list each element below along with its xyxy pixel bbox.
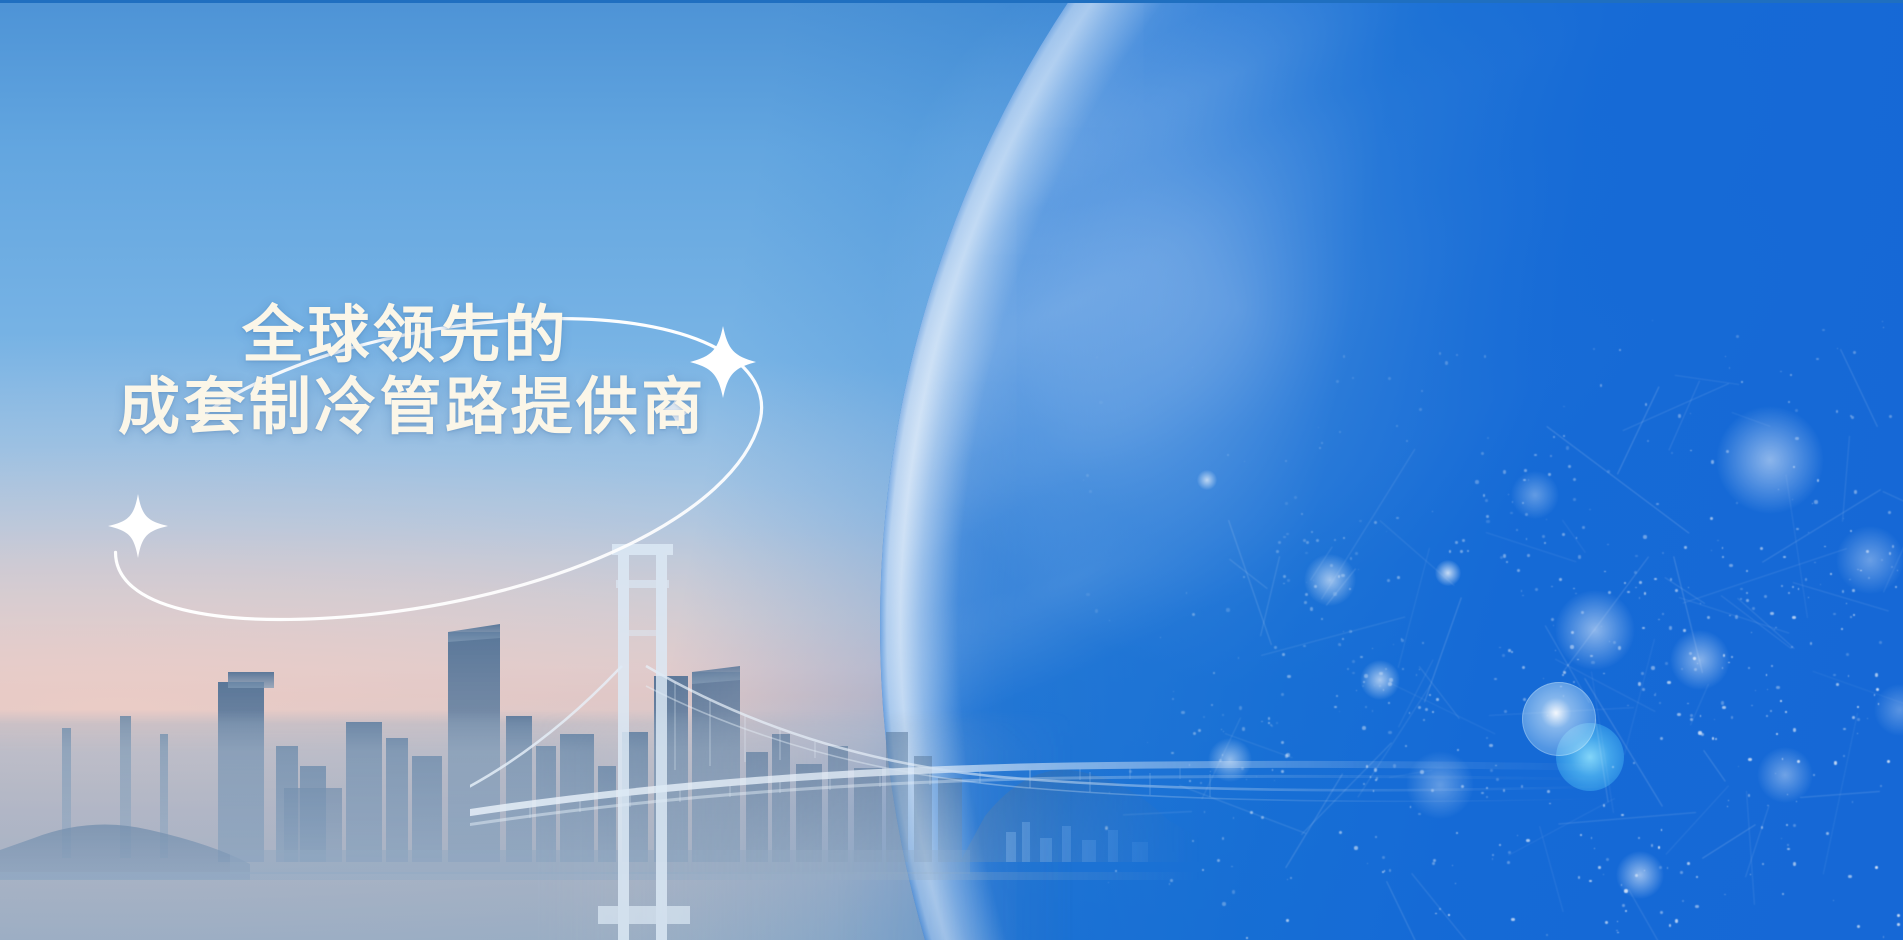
city-light-point — [1651, 666, 1654, 669]
city-light-point — [1830, 573, 1831, 574]
city-light-point — [1641, 672, 1644, 675]
city-light-point — [1675, 919, 1679, 923]
city-light-point — [1798, 588, 1799, 589]
city-light-point — [1796, 528, 1799, 531]
city-light-point — [1667, 681, 1670, 684]
city-light-point — [1820, 584, 1821, 585]
city-light-point — [1771, 665, 1773, 667]
city-light-point — [1841, 628, 1843, 630]
city-light-point — [1622, 904, 1625, 907]
city-light-point — [1796, 801, 1797, 802]
city-light-point — [1635, 587, 1636, 588]
city-light-point — [1767, 689, 1768, 690]
city-light-point — [1793, 728, 1796, 731]
headline-line-1: 全球领先的 — [118, 300, 898, 372]
city-light-point — [1752, 607, 1755, 610]
city-light-point — [1810, 642, 1813, 645]
city-light-point — [1711, 550, 1712, 551]
city-light-point — [1751, 632, 1752, 633]
city-light-point — [1808, 597, 1809, 598]
city-light-point — [1727, 806, 1728, 807]
city-light-point — [1728, 800, 1729, 801]
city-light-point — [1627, 591, 1630, 594]
city-light-point — [1853, 351, 1856, 354]
city-light-point — [1770, 612, 1773, 615]
city-light-point — [1319, 447, 1321, 449]
city-light-point — [1786, 824, 1788, 826]
city-light-point — [1776, 686, 1779, 689]
city-light-point — [1690, 450, 1692, 452]
city-light-point — [1244, 461, 1245, 462]
city-light-point — [1728, 662, 1729, 663]
city-light-point — [1792, 586, 1794, 588]
city-light-point — [1787, 844, 1788, 845]
city-light-point — [1729, 564, 1732, 567]
city-light-thread — [1703, 750, 1726, 782]
city-light-point — [1639, 581, 1642, 584]
city-light-point — [1661, 829, 1663, 831]
city-light-point — [1853, 614, 1855, 616]
city-light-thread — [1622, 383, 1729, 431]
city-light-point — [1707, 616, 1710, 619]
city-light-point — [1740, 588, 1743, 591]
city-light-point — [1875, 866, 1878, 869]
city-light-point — [1096, 356, 1099, 359]
city-light-point — [1701, 733, 1704, 736]
city-light-point — [1680, 871, 1683, 874]
city-light-point — [1748, 667, 1750, 669]
city-light-point — [1822, 329, 1825, 332]
city-light-point — [1852, 589, 1855, 592]
city-light-point — [1682, 900, 1685, 903]
city-light-point — [1625, 910, 1627, 912]
city-light-point — [1857, 925, 1860, 928]
city-light-point — [1729, 615, 1731, 617]
city-light-point — [1675, 589, 1678, 592]
city-light-point — [1787, 848, 1790, 851]
city-light-point — [1889, 552, 1891, 554]
hero-banner: 全球领先的 成套制冷管路提供商 — [0, 0, 1903, 940]
city-light-cluster — [1716, 406, 1824, 514]
city-light-point — [1888, 511, 1891, 514]
city-light-thread — [1665, 786, 1729, 856]
city-light-point — [1654, 694, 1656, 696]
city-light-point — [1388, 377, 1391, 380]
city-light-point — [1793, 824, 1796, 827]
city-light-point — [1695, 905, 1699, 909]
city-light-point — [1812, 503, 1813, 504]
city-light-point — [1688, 587, 1690, 589]
city-light-point — [1792, 616, 1795, 619]
city-light-point — [1687, 862, 1690, 865]
city-light-point — [1836, 683, 1839, 686]
city-light-point — [1788, 401, 1791, 404]
city-light-point — [1843, 728, 1846, 731]
city-light-point — [1785, 711, 1786, 712]
city-light-point — [1816, 358, 1818, 360]
city-light-point — [1717, 540, 1719, 542]
city-light-point — [1690, 718, 1693, 721]
city-light-point — [1667, 867, 1668, 868]
city-light-point — [1833, 613, 1835, 615]
city-light-point — [1834, 761, 1837, 764]
city-light-point — [1882, 321, 1883, 322]
city-light-point — [1854, 490, 1857, 493]
city-light-point — [1285, 460, 1287, 462]
city-light-point — [1321, 442, 1323, 444]
city-light-point — [1099, 401, 1102, 404]
city-light-point — [1694, 668, 1697, 671]
city-light-point — [1639, 597, 1640, 598]
city-light-point — [1568, 465, 1571, 468]
city-light-point — [1669, 924, 1671, 926]
city-light-point — [1760, 547, 1763, 550]
city-light-point — [1621, 814, 1624, 817]
city-light-point — [1736, 502, 1738, 504]
city-light-point — [1634, 571, 1637, 574]
city-light-point — [1762, 863, 1764, 865]
city-light-point — [1681, 668, 1683, 670]
city-light-point — [1621, 884, 1623, 886]
city-light-point — [1714, 719, 1715, 720]
page-title: 全球领先的 成套制冷管路提供商 — [118, 300, 898, 444]
city-light-point — [1781, 585, 1783, 587]
city-light-point — [1746, 570, 1748, 572]
city-light-point — [1735, 615, 1738, 618]
city-light-point — [1793, 862, 1796, 865]
city-light-point — [1843, 518, 1844, 519]
city-light-point — [1867, 718, 1868, 719]
city-light-point — [1644, 592, 1647, 595]
city-light-point — [1671, 452, 1673, 454]
city-light-point — [1662, 613, 1663, 614]
city-light-point — [1534, 454, 1537, 457]
city-light-point — [1748, 758, 1751, 761]
city-light-point — [1824, 546, 1825, 547]
city-light-point — [1846, 653, 1849, 656]
city-light-point — [1700, 715, 1701, 716]
city-light-point — [1726, 450, 1729, 453]
city-light-point — [1736, 335, 1739, 338]
city-light-point — [1690, 413, 1691, 414]
city-light-point — [1343, 355, 1346, 358]
city-light-point — [1846, 603, 1847, 604]
city-light-point — [1645, 403, 1648, 406]
city-light-point — [1624, 889, 1628, 893]
city-light-point — [1755, 690, 1756, 691]
city-light-point — [1833, 674, 1836, 677]
city-light-point — [1897, 914, 1900, 917]
city-light-cluster — [1836, 526, 1903, 594]
city-light-point — [1814, 500, 1817, 503]
city-light-point — [1715, 738, 1717, 740]
city-light-point — [1655, 693, 1656, 694]
city-light-point — [1883, 936, 1885, 938]
city-light-point — [1352, 377, 1354, 379]
city-light-point — [1684, 546, 1686, 548]
sparkle-icon — [108, 494, 168, 558]
city-light-point — [1848, 675, 1849, 676]
city-light-point — [1627, 705, 1628, 706]
city-light-point — [1788, 592, 1791, 595]
city-light-point — [1722, 706, 1725, 709]
city-light-point — [1660, 911, 1663, 914]
city-light-point — [1658, 846, 1661, 849]
city-light-point — [1725, 356, 1726, 357]
city-light-point — [1764, 595, 1767, 598]
city-light-point — [1842, 590, 1844, 592]
city-light-point — [1895, 586, 1897, 588]
city-light-point — [1767, 805, 1768, 806]
city-light-point — [1644, 870, 1645, 871]
city-light-point — [1643, 535, 1646, 538]
city-light-thread — [1702, 824, 1756, 859]
city-light-point — [1880, 785, 1882, 787]
city-light-point — [1487, 437, 1489, 439]
city-light-cluster — [1757, 747, 1813, 803]
city-light-point — [1700, 603, 1701, 604]
city-light-point — [1318, 427, 1320, 429]
city-light-point — [1662, 552, 1664, 554]
top-accent-bar — [0, 0, 1903, 3]
city-light-point — [1669, 626, 1672, 629]
city-light-point — [1665, 662, 1668, 665]
city-light-point — [1889, 415, 1892, 418]
city-light-point — [1887, 760, 1890, 763]
city-light-point — [1761, 826, 1764, 829]
city-light-point — [1850, 415, 1852, 417]
city-light-point — [1826, 832, 1829, 835]
city-light-point — [1670, 578, 1673, 581]
city-light-point — [1339, 431, 1341, 433]
city-light-point — [1396, 425, 1398, 427]
city-light-point — [1852, 801, 1854, 803]
city-light-point — [1642, 627, 1644, 629]
city-light-point — [1766, 715, 1768, 717]
city-light-point — [1875, 673, 1878, 676]
city-light-point — [1406, 440, 1408, 442]
city-light-point — [1683, 629, 1685, 631]
city-light-point — [1746, 599, 1748, 601]
city-light-point — [1781, 838, 1782, 839]
city-light-point — [1790, 374, 1792, 376]
city-light-point — [1857, 733, 1859, 735]
city-light-point — [1711, 460, 1715, 464]
city-light-point — [1876, 688, 1879, 691]
city-light-point — [1843, 755, 1845, 757]
city-light-thread — [1737, 598, 1794, 649]
city-light-point — [1805, 578, 1808, 581]
city-light-point — [1654, 578, 1657, 581]
city-light-point — [1642, 688, 1645, 691]
city-light-point — [1484, 355, 1486, 357]
city-light-point — [1833, 900, 1834, 901]
city-light-point — [1850, 616, 1852, 618]
city-light-point — [1746, 592, 1748, 594]
city-light-point — [1678, 414, 1681, 417]
city-light-point — [1456, 354, 1458, 356]
city-light-point — [1879, 641, 1882, 644]
city-light-point — [1593, 348, 1595, 350]
city-light-point — [1677, 713, 1680, 716]
city-light-point — [1857, 718, 1860, 721]
city-light-point — [1793, 466, 1794, 467]
city-light-point — [1770, 710, 1772, 712]
city-light-point — [1550, 455, 1552, 457]
city-light-point — [1751, 705, 1752, 706]
city-light-point — [1795, 437, 1798, 440]
city-light-point — [1795, 409, 1798, 412]
city-light-point — [1192, 367, 1193, 368]
city-light-point — [1553, 436, 1555, 438]
city-light-point — [1852, 716, 1855, 719]
city-light-point — [1710, 517, 1713, 520]
city-light-point — [1892, 545, 1894, 547]
city-light-point — [1687, 703, 1689, 705]
city-light-point — [1766, 674, 1767, 675]
city-light-point — [1445, 361, 1448, 364]
city-light-point — [1635, 874, 1638, 877]
city-light-point — [1660, 737, 1663, 740]
city-light-point — [1638, 837, 1640, 839]
city-light-point — [1563, 406, 1565, 408]
city-light-point — [1729, 367, 1730, 368]
city-light-point — [1600, 384, 1603, 387]
city-light-point — [1814, 562, 1816, 564]
city-light-point — [1724, 894, 1725, 895]
city-light-point — [1659, 702, 1661, 704]
city-light-point — [1336, 380, 1339, 383]
city-light-point — [1722, 547, 1723, 548]
city-light-point — [1419, 408, 1422, 411]
city-light-thread — [1669, 381, 1700, 451]
city-light-point — [1696, 876, 1697, 877]
city-light-thread — [1840, 349, 1878, 427]
city-light-point — [1731, 716, 1733, 718]
city-light-point — [1421, 390, 1423, 392]
city-light-point — [1857, 569, 1858, 570]
city-light-point — [1693, 657, 1696, 660]
city-light-point — [1619, 349, 1621, 351]
city-light-point — [1817, 479, 1819, 481]
city-light-point — [1836, 410, 1838, 412]
city-light-point — [1776, 733, 1778, 735]
city-light-point — [1783, 556, 1786, 559]
city-light-point — [1782, 893, 1784, 895]
city-light-point — [1227, 454, 1229, 456]
city-light-thread — [1679, 597, 1790, 634]
city-light-point — [1481, 452, 1484, 455]
city-light-point — [1741, 381, 1743, 383]
city-light-point — [1721, 701, 1724, 704]
city-light-point — [1712, 737, 1714, 739]
city-light-point — [1658, 619, 1660, 621]
city-light-point — [1813, 774, 1815, 776]
city-light-point — [1656, 503, 1658, 505]
city-light-point — [1878, 703, 1879, 704]
city-light-point — [1897, 923, 1900, 926]
city-light-point — [1633, 762, 1635, 764]
headline-line-2: 成套制冷管路提供商 — [118, 372, 898, 444]
city-light-point — [1731, 656, 1733, 658]
city-light-point — [1837, 348, 1838, 349]
city-light-cluster — [1874, 684, 1903, 736]
city-light-point — [1857, 706, 1859, 708]
city-light-point — [1780, 371, 1782, 373]
city-light-point — [1740, 598, 1742, 600]
city-light-point — [1748, 794, 1751, 797]
city-light-point — [1624, 582, 1626, 584]
city-light-point — [1738, 766, 1739, 767]
city-light-point — [1439, 352, 1441, 354]
city-light-point — [1563, 435, 1565, 437]
city-light-point — [1780, 700, 1782, 702]
city-light-point — [1566, 446, 1570, 450]
city-light-point — [1848, 875, 1851, 878]
city-light-point — [1647, 440, 1649, 442]
city-light-point — [1635, 555, 1637, 557]
city-light-point — [1866, 550, 1869, 553]
city-light-point — [1722, 556, 1724, 558]
city-light-point — [1651, 844, 1653, 846]
